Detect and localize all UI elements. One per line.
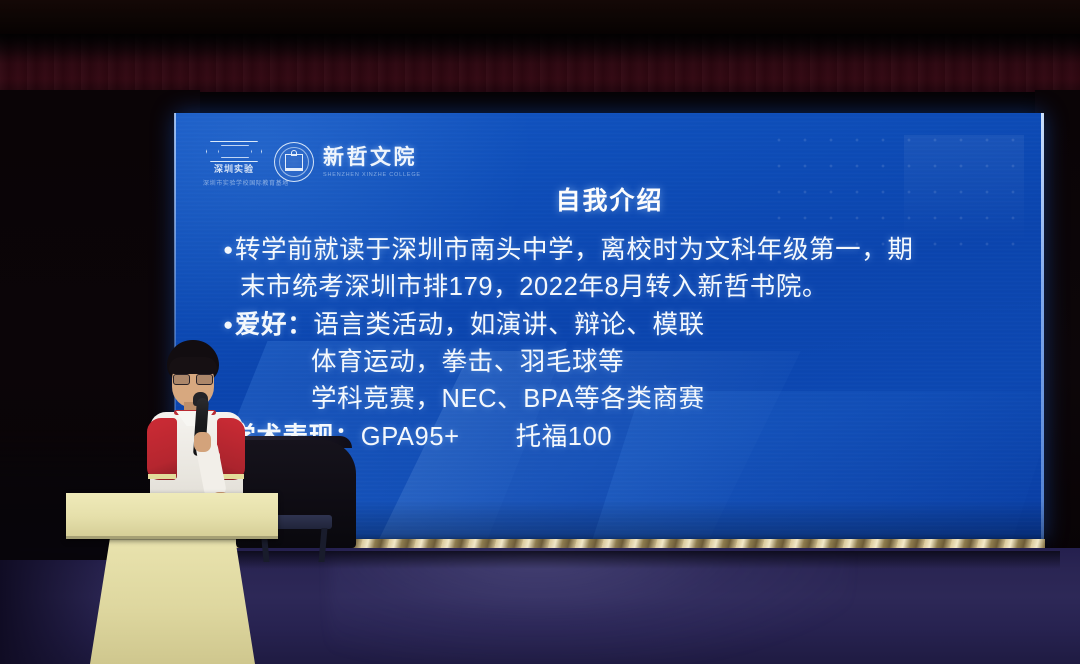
brand-mark-a-name: 深圳实验	[214, 165, 254, 174]
slide-title: 自我介绍	[175, 181, 1044, 217]
slide-body: ●转学前就读于深圳市南头中学，离校时为文科年级第一，期 末市统考深圳市排179，…	[223, 231, 1023, 456]
auditorium-ceiling	[0, 0, 1080, 34]
slide-bullet-line-2: 末市统考深圳市排179，2022年8月转入新哲书院。	[223, 269, 1023, 306]
slide-bullet-line-1: ●转学前就读于深圳市南头中学，离校时为文科年级第一，期	[223, 231, 1023, 269]
slide-header: 深圳实验 深圳市实验学校国际教育基地 新哲文院 SHENZHEN XINZHE …	[175, 133, 1044, 203]
slide-bullet-line-4: 体育运动，拳击、羽毛球等	[223, 344, 1023, 381]
bullet-text-6b: 托福100	[516, 423, 613, 451]
podium-top	[66, 493, 278, 539]
bullet-text-3: 语言类活动，如演讲、辩论、模联	[313, 311, 705, 339]
speaker-sleeve-hem-left	[148, 474, 176, 479]
diamond-emblem-icon	[206, 141, 262, 162]
shenzhen-experimental-logo: 深圳实验 深圳市实验学校国际教育基地	[203, 141, 265, 183]
speaker-hair-fringe	[169, 357, 217, 374]
bullet-text-2: 末市统考深圳市排179，2022年8月转入新哲书院。	[240, 273, 828, 301]
bullet-text-1: 转学前就读于深圳市南头中学，离校时为文科年级第一，期	[235, 236, 914, 264]
brand-lockup: 深圳实验 深圳市实验学校国际教育基地 新哲文院 SHENZHEN XINZHE …	[203, 141, 421, 183]
college-brand-subtitle: SHENZHEN XINZHE COLLEGE	[323, 172, 421, 178]
valance-cast-shadow	[130, 551, 1060, 569]
bullet-text-5: 学科竞赛，NEC、BPA等各类商赛	[311, 385, 705, 413]
glasses-lens-left	[173, 374, 190, 385]
bullet-dot-icon: ●	[223, 315, 234, 334]
speaker-glasses-icon	[172, 374, 214, 383]
podium-top-edge	[66, 536, 278, 540]
slide-bullet-line-3: ●爱好：语言类活动，如演讲、辩论、模联	[223, 306, 1023, 344]
bullet-lead-3: 爱好：	[235, 311, 313, 339]
curtain-shadow	[0, 34, 1080, 64]
glasses-lens-right	[196, 374, 213, 385]
slide-bullet-line-5: 学科竞赛，NEC、BPA等各类商赛	[223, 381, 1023, 418]
bullet-dot-icon: ●	[223, 240, 234, 259]
bullet-text-6: GPA95+	[361, 423, 460, 451]
college-brand-name: 新哲文院	[323, 147, 421, 168]
led-screen-right-edge	[1041, 113, 1044, 543]
seal-gate-glyph-icon	[285, 154, 303, 171]
speaker-sleeve-left	[147, 418, 177, 480]
speaker-hand-holding-mic	[194, 432, 211, 452]
college-brand-name-wrap: 新哲文院 SHENZHEN XINZHE COLLEGE	[323, 147, 421, 178]
college-seal-icon	[274, 142, 314, 182]
stage-presentation-photo: 深圳实验 深圳市实验学校国际教育基地 新哲文院 SHENZHEN XINZHE …	[0, 0, 1080, 664]
podium-base	[90, 539, 255, 664]
bullet-text-4: 体育运动，拳击、羽毛球等	[311, 348, 624, 376]
